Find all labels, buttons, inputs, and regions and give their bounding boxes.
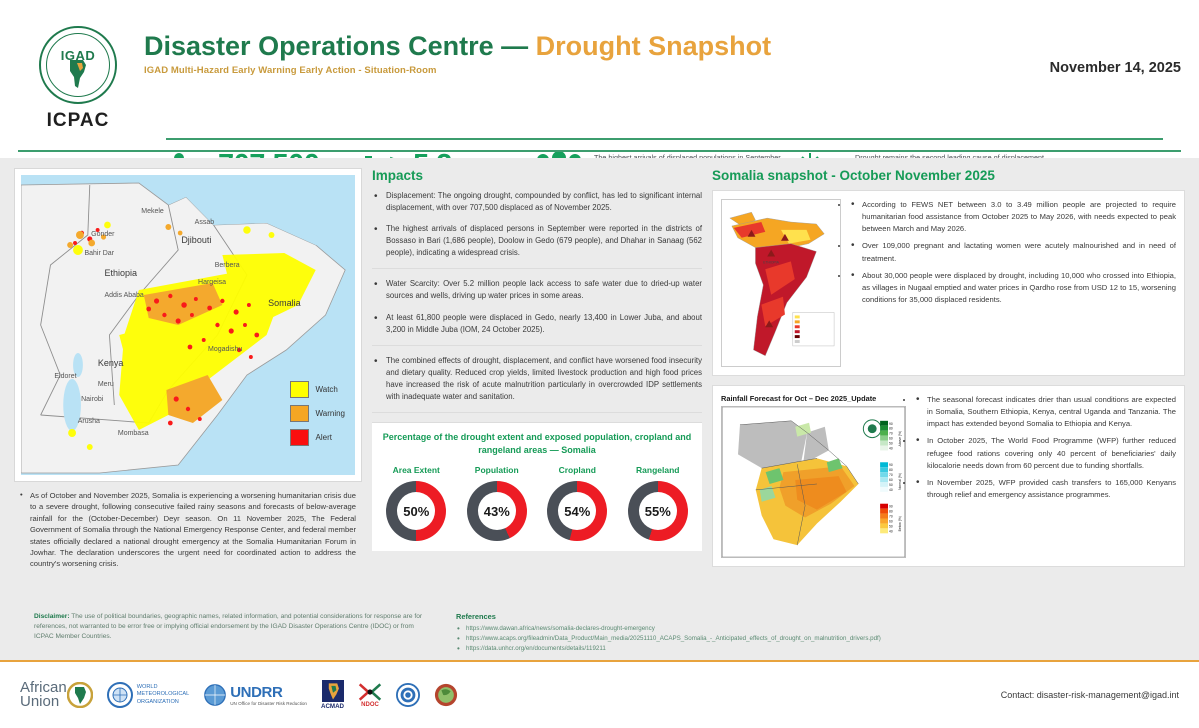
impact-item: The highest arrivals of displaced person… xyxy=(372,223,702,269)
map-label-arusha: Arusha xyxy=(78,418,100,425)
svg-text:90: 90 xyxy=(889,505,893,509)
header-bottom-divider xyxy=(18,150,1181,152)
icpac-globe-logo xyxy=(434,683,458,707)
wmo-line2: METEOROLOGICAL xyxy=(137,691,190,699)
page-title-accent: Drought Snapshot xyxy=(536,31,771,61)
donut-label: Cropland xyxy=(538,465,616,475)
undrr-sub: UN Office for Disaster Risk Reduction xyxy=(230,701,307,706)
rainfall-bullets: The seasonal forecast indicates drier th… xyxy=(914,394,1176,558)
page-title-main: Disaster Operations Centre — xyxy=(144,31,528,61)
impact-item: Water Scarcity: Over 5.2 million people … xyxy=(372,278,702,302)
wmo-line3: ORGANIZATION xyxy=(137,699,190,707)
map-label-mekele: Mekele xyxy=(141,208,164,215)
regional-drought-map-card: Mekele Gonder Assab Bahir Dar Djibouti B… xyxy=(14,168,362,482)
svg-text:50: 50 xyxy=(889,524,893,528)
fews-net-map[interactable]: ETHIOPIA xyxy=(721,199,841,367)
undrr-logo: UNDRR UN Office for Disaster Risk Reduct… xyxy=(203,683,307,707)
rainfall-forecast-card: Rainfall Forecast for Oct – Dec 2025_Upd… xyxy=(712,385,1185,567)
svg-text:80: 80 xyxy=(889,468,893,472)
map-label-nairobi: Nairobi xyxy=(81,396,103,403)
somalia-fews-card: ETHIOPIA According to FEWS NET between 3… xyxy=(712,190,1185,376)
drought-percentage-chart: Percentage of the drought extent and exp… xyxy=(372,422,702,551)
legend-item-alert: Alert xyxy=(290,429,346,446)
map-label-kenya: Kenya xyxy=(98,358,124,368)
svg-text:90: 90 xyxy=(889,422,893,426)
donut-value: 55% xyxy=(639,492,677,530)
somalia-column: Somalia snapshot - October November 2025 xyxy=(712,168,1185,660)
somalia-bullet: About 30,000 people were displaced by dr… xyxy=(849,270,1176,306)
impacts-list: Displacement: The ongoing drought, compo… xyxy=(372,190,702,413)
rainfall-map-wrap: Rainfall Forecast for Oct – Dec 2025_Upd… xyxy=(721,394,906,558)
ndoc-emblem-icon xyxy=(358,682,382,702)
map-label-meru: Meru xyxy=(98,381,114,388)
svg-text:ETHIOPIA: ETHIOPIA xyxy=(763,260,779,264)
report-date: November 14, 2025 xyxy=(951,60,1181,76)
donut-value: 50% xyxy=(397,492,435,530)
svg-text:70: 70 xyxy=(889,473,893,477)
wmo-line1: WORLD xyxy=(137,684,190,692)
contact-info: Contact: disaster-risk-management@igad.i… xyxy=(1001,690,1179,700)
legend-item-warning: Warning xyxy=(290,405,346,422)
svg-text:40: 40 xyxy=(889,446,893,450)
legend-swatch-alert xyxy=(290,429,309,446)
igad-seal-icon: IGAD xyxy=(39,26,117,104)
svg-text:50: 50 xyxy=(889,483,893,487)
map-label-ethiopia: Ethiopia xyxy=(105,268,138,278)
donut-gauge: 43% xyxy=(467,481,527,541)
map-label-mogadishu: Mogadishu xyxy=(208,346,242,353)
references-title: References xyxy=(456,612,1185,621)
rainfall-map-graphic: 908070 605040 908070 605040 908070 60504… xyxy=(722,407,905,557)
rainfall-map-title: Rainfall Forecast for Oct – Dec 2025_Upd… xyxy=(721,394,906,403)
reference-link[interactable]: https://data.unhcr.org/en/documents/deta… xyxy=(456,644,1185,654)
donut-value: 43% xyxy=(478,492,516,530)
map-label-assab: Assab xyxy=(195,219,214,226)
rainfall-bullet: In November 2025, WFP provided cash tran… xyxy=(914,477,1176,501)
rainfall-forecast-map[interactable]: 908070 605040 908070 605040 908070 60504… xyxy=(721,406,906,558)
au-emblem-icon xyxy=(67,682,93,708)
map-label-djibouti: Djibouti xyxy=(181,235,211,245)
donut-population: Population 43% xyxy=(458,465,536,541)
somalia-title: Somalia snapshot - October November 2025 xyxy=(712,168,1185,183)
reference-link[interactable]: https://www.dawan.africa/news/somalia-de… xyxy=(456,624,1185,634)
disclaimer: Disclaimer: The use of political boundar… xyxy=(14,606,444,658)
undrr-name: UNDRR xyxy=(230,684,307,701)
donut-area-extent: Area Extent 50% xyxy=(377,465,455,541)
au-line2: Union xyxy=(20,695,67,709)
main-content: Mekele Gonder Assab Bahir Dar Djibouti B… xyxy=(0,158,1199,660)
legend-swatch-watch xyxy=(290,381,309,398)
ndoc-name: NDOC xyxy=(361,702,379,708)
svg-text:90: 90 xyxy=(889,463,893,467)
africa-map-icon xyxy=(65,58,91,90)
legend-item-watch: Watch xyxy=(290,381,346,398)
page-subtitle: IGAD Multi-Hazard Early Warning Early Ac… xyxy=(144,65,951,76)
map-legend: Watch Warning Alert xyxy=(290,381,346,453)
svg-text:70: 70 xyxy=(889,432,893,436)
impacts-column: Impacts Displacement: The ongoing drough… xyxy=(372,168,702,660)
map-summary-note: As of October and November 2025, Somalia… xyxy=(14,482,362,570)
svg-text:80: 80 xyxy=(889,510,893,514)
svg-text:40: 40 xyxy=(889,488,893,492)
somalia-bullet: According to FEWS NET between 3.0 to 3.4… xyxy=(849,199,1176,235)
fews-map-graphic: ETHIOPIA xyxy=(722,200,840,366)
svg-text:70: 70 xyxy=(889,515,893,519)
disclaimer-text: The use of political boundaries, geograp… xyxy=(34,613,422,640)
wmo-emblem-icon xyxy=(107,682,133,708)
map-label-mombasa: Mombasa xyxy=(118,430,149,437)
svg-text:40: 40 xyxy=(889,529,893,533)
impacts-title: Impacts xyxy=(372,168,702,183)
donut-gauge: 55% xyxy=(628,481,688,541)
donut-gauge-row: Area Extent 50% Population 43% Cropland … xyxy=(376,465,698,541)
svg-text:80: 80 xyxy=(889,427,893,431)
partner-logos: African Union WORLD METEOROLOGICAL ORGAN… xyxy=(20,680,458,710)
chart-title: Percentage of the drought extent and exp… xyxy=(376,431,698,457)
igad-icpac-logo: IGAD ICPAC xyxy=(18,26,138,132)
svg-text:50: 50 xyxy=(889,442,893,446)
map-label-eldoret: Eldoret xyxy=(54,373,76,380)
map-label-berbera: Berbera xyxy=(215,262,240,269)
page-footer: African Union WORLD METEOROLOGICAL ORGAN… xyxy=(0,660,1199,728)
african-union-logo: African Union xyxy=(20,681,93,710)
world-meteorological-organization-logo: WORLD METEOROLOGICAL ORGANIZATION xyxy=(107,682,190,708)
legend-label-alert: Alert xyxy=(316,433,332,442)
reference-link[interactable]: https://www.acaps.org/fileadmin/Data_Pro… xyxy=(456,634,1185,644)
svg-text:60: 60 xyxy=(889,478,893,482)
acmad-emblem-icon xyxy=(322,680,344,702)
title-block: Disaster Operations Centre — Drought Sna… xyxy=(138,26,951,76)
svg-text:Below (%): Below (%) xyxy=(898,516,902,531)
donut-cropland: Cropland 54% xyxy=(538,465,616,541)
regional-drought-map[interactable]: Mekele Gonder Assab Bahir Dar Djibouti B… xyxy=(21,175,355,475)
left-column: Mekele Gonder Assab Bahir Dar Djibouti B… xyxy=(14,168,362,660)
references-list: https://www.dawan.africa/news/somalia-de… xyxy=(456,624,1185,655)
legend-label-watch: Watch xyxy=(316,385,338,394)
map-label-somalia: Somalia xyxy=(268,298,301,308)
impact-item: Displacement: The ongoing drought, compo… xyxy=(372,190,702,214)
map-label-gonder: Gonder xyxy=(91,231,114,238)
impact-item: At least 61,800 people were displaced in… xyxy=(372,312,702,346)
page-title: Disaster Operations Centre — Drought Sna… xyxy=(144,32,951,60)
map-label-bahir-dar: Bahir Dar xyxy=(84,250,114,257)
igad-seal-text: IGAD xyxy=(61,48,96,63)
map-label-hargeisa: Hargeisa xyxy=(198,279,226,286)
somalia-bullet: Over 109,000 pregnant and lactating wome… xyxy=(849,240,1176,264)
donut-label: Area Extent xyxy=(377,465,455,475)
donut-value: 54% xyxy=(558,492,596,530)
ndoc-logo: NDOC xyxy=(358,682,382,708)
svg-text:60: 60 xyxy=(889,437,893,441)
un-emblem-logo xyxy=(396,683,420,707)
disclaimer-label: Disclaimer: xyxy=(34,613,70,620)
report-date-block: November 14, 2025 xyxy=(951,26,1181,76)
acmad-logo: ACMAD xyxy=(321,680,344,710)
donut-label: Rangeland xyxy=(619,465,697,475)
acmad-name: ACMAD xyxy=(321,703,344,710)
donut-label: Population xyxy=(458,465,536,475)
donut-gauge: 54% xyxy=(547,481,607,541)
un-globe-icon xyxy=(203,683,227,707)
header-top-row: IGAD ICPAC Disaster Operations Centre — … xyxy=(18,0,1181,132)
legend-swatch-warning xyxy=(290,405,309,422)
svg-text:60: 60 xyxy=(889,519,893,523)
un-emblem-icon xyxy=(396,683,420,707)
icpac-label: ICPAC xyxy=(47,110,110,132)
disclaimer-references-bar: Disclaimer: The use of political boundar… xyxy=(14,606,1185,658)
icpac-globe-icon xyxy=(434,683,458,707)
rainfall-bullet: The seasonal forecast indicates drier th… xyxy=(914,394,1176,430)
references: References https://www.dawan.africa/news… xyxy=(444,606,1185,658)
impact-item: The combined effects of drought, displac… xyxy=(372,355,702,413)
page-header: IGAD ICPAC Disaster Operations Centre — … xyxy=(0,0,1199,158)
donut-gauge: 50% xyxy=(386,481,446,541)
map-label-addis-ababa: Addis Ababa xyxy=(105,292,144,299)
legend-label-warning: Warning xyxy=(316,409,346,418)
somalia-bullets: According to FEWS NET between 3.0 to 3.4… xyxy=(849,199,1176,367)
rainfall-bullet: In October 2025, The World Food Programm… xyxy=(914,435,1176,471)
donut-rangeland: Rangeland 55% xyxy=(619,465,697,541)
